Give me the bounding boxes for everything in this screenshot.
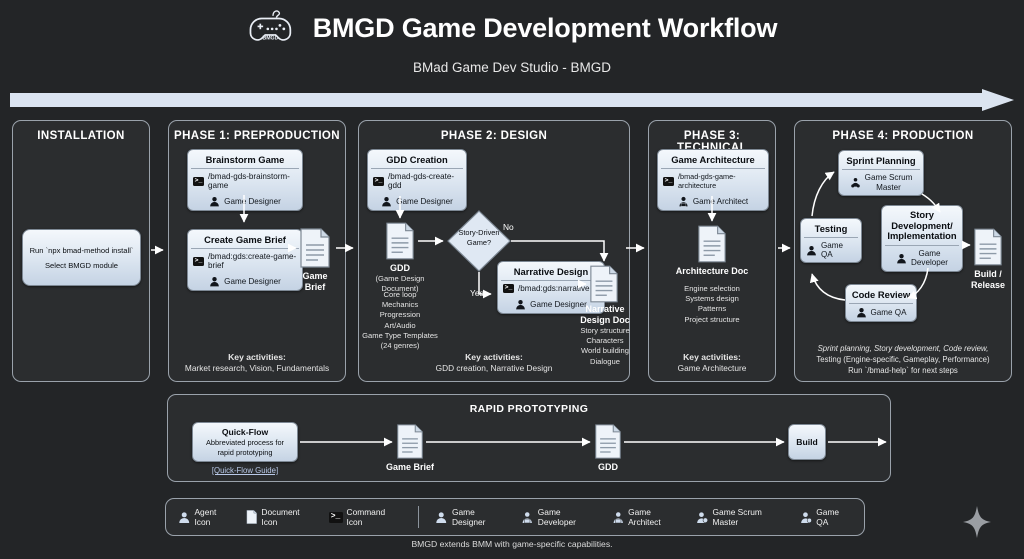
command-icon: >_ bbox=[373, 177, 384, 186]
game-designer-icon bbox=[209, 276, 220, 287]
phase4-footer: Sprint planning, Story development, Code… bbox=[796, 344, 1010, 365]
legend-role-game-developer: Game Developer bbox=[521, 507, 598, 527]
bullet-0: Story structure bbox=[580, 326, 629, 335]
document-icon-rapid-game-brief bbox=[396, 424, 424, 459]
legend-label: Game Developer bbox=[538, 507, 599, 527]
game-scrum-master-icon bbox=[850, 177, 861, 188]
agent-icon bbox=[178, 511, 190, 524]
legend: Agent Icon Document Icon >_ Command Icon… bbox=[165, 498, 865, 536]
doc-label-game-brief: Game Brief bbox=[285, 271, 345, 293]
page-title: BMGD Game Development Workflow bbox=[313, 13, 778, 44]
label-line-1: Narrative bbox=[585, 304, 624, 314]
command-icon: >_ bbox=[193, 177, 204, 186]
node-command-row[interactable]: >_ /bmad:gds:create-game-brief bbox=[188, 249, 302, 273]
label-line-2: Design Doc bbox=[580, 315, 630, 325]
game-designer-icon bbox=[515, 299, 526, 310]
node-title: Brainstorm Game bbox=[188, 150, 302, 168]
command-icon: >_ bbox=[329, 512, 343, 523]
legend-item-command-icon: >_ Command Icon bbox=[329, 507, 401, 527]
bullet-1: Systems design bbox=[685, 294, 739, 303]
node-game-architecture[interactable]: Game Architecture >_ /bmad-gds-game-arch… bbox=[657, 149, 769, 211]
desc-line-2: rapid prototyping bbox=[217, 448, 272, 457]
node-story-development[interactable]: Story Development/ Implementation Game D… bbox=[881, 205, 963, 272]
panel-title-phase4: PHASE 4: PRODUCTION bbox=[795, 130, 1011, 142]
agent-name: Game Designer bbox=[396, 197, 453, 206]
rapid-prototyping-title: RAPID PROTOTYPING bbox=[168, 403, 890, 415]
node-brainstorm-game[interactable]: Brainstorm Game >_ /bmad-gds-brainstorm-… bbox=[187, 149, 303, 211]
node-agent-row: Game Designer bbox=[368, 193, 466, 210]
panel-title-phase1: PHASE 1: PREPRODUCTION bbox=[169, 130, 345, 142]
node-agent-row: Game QA bbox=[846, 304, 916, 321]
card-rapid-build[interactable]: Build bbox=[788, 424, 826, 460]
phase1-key-activities: Key activities: Market research, Vision,… bbox=[169, 352, 345, 374]
phase4-footer-run: Run `/bmad-help` for next steps bbox=[796, 366, 1010, 375]
key-activities-text: Market research, Vision, Fundamentals bbox=[185, 363, 329, 373]
key-activities-label: Key activities: bbox=[683, 352, 741, 362]
command-text: /bmad-gds-brainstorm-game bbox=[208, 172, 297, 190]
node-title: Game Architecture bbox=[658, 150, 768, 168]
node-title: Create Game Brief bbox=[188, 230, 302, 248]
card-quick-flow[interactable]: Quick-Flow Abbreviated process for rapid… bbox=[192, 422, 298, 462]
timeline-arrow bbox=[10, 89, 1014, 111]
quick-flow-title: Quick-Flow bbox=[222, 427, 268, 437]
node-title: Sprint Planning bbox=[839, 151, 923, 169]
document-icon-narrative bbox=[589, 265, 619, 303]
panel-title-phase2: PHASE 2: DESIGN bbox=[359, 130, 629, 142]
agent-name: Game Designer bbox=[224, 277, 281, 286]
document-icon-game-brief bbox=[299, 228, 331, 268]
node-testing[interactable]: Testing Game QA bbox=[800, 218, 862, 263]
key-activities-label: Key activities: bbox=[228, 352, 286, 362]
footer-caption: BMGD extends BMM with game-specific capa… bbox=[0, 539, 1024, 549]
bullet-5: (24 genres) bbox=[381, 341, 420, 350]
document-icon-gdd bbox=[385, 222, 415, 260]
legend-label: Game Scrum Master bbox=[713, 507, 787, 527]
bullet-3: Project structure bbox=[684, 315, 739, 324]
agent-name: Game QA bbox=[871, 308, 907, 317]
command-text: /bmad:gds:narrative bbox=[518, 284, 590, 293]
game-developer-icon bbox=[896, 253, 907, 264]
game-qa-icon bbox=[806, 245, 817, 256]
game-designer-icon bbox=[435, 511, 447, 524]
game-qa-icon bbox=[800, 511, 812, 524]
command-text: /bmad-gds-create-gdd bbox=[388, 172, 461, 190]
install-line-1: Run `npx bmad-method install` bbox=[30, 246, 134, 255]
quick-flow-desc: Abbreviated process for rapid prototypin… bbox=[206, 438, 284, 457]
document-icon bbox=[246, 510, 258, 524]
agent-line-2: Master bbox=[876, 183, 901, 192]
node-agent-row: Game QA bbox=[801, 238, 861, 262]
legend-label: Game QA bbox=[816, 507, 852, 527]
quick-flow-guide-link[interactable]: [Quick-Flow Guide] bbox=[180, 466, 310, 475]
key-activities-text: GDD creation, Narrative Design bbox=[436, 363, 553, 373]
legend-label: Command Icon bbox=[347, 507, 401, 527]
sparkle-icon bbox=[962, 505, 992, 539]
command-text: /bmad:gds:create-game-brief bbox=[208, 252, 297, 270]
key-activities-label: Key activities: bbox=[465, 352, 523, 362]
game-developer-icon bbox=[521, 511, 533, 524]
page-subtitle: BMad Game Dev Studio - BMGD bbox=[0, 60, 1024, 75]
command-icon: >_ bbox=[663, 177, 674, 186]
legend-role-game-scrum-master: Game Scrum Master bbox=[696, 507, 787, 527]
document-icon-build-release bbox=[973, 228, 1003, 266]
legend-role-game-designer: Game Designer bbox=[435, 507, 508, 527]
node-agent-row: Game Designer bbox=[188, 193, 302, 210]
panel-installation: INSTALLATION Run `npx bmad-method instal… bbox=[12, 120, 150, 382]
bullet-2: Patterns bbox=[698, 304, 726, 313]
build-label: Build bbox=[796, 437, 817, 447]
node-sprint-planning[interactable]: Sprint Planning Game Scrum Master bbox=[838, 150, 924, 196]
game-designer-icon bbox=[209, 196, 220, 207]
command-icon: >_ bbox=[503, 284, 514, 293]
decision-label: Story-Driven Game? bbox=[447, 228, 511, 247]
footer-line-2: Testing (Engine-specific, Gameplay, Perf… bbox=[816, 355, 989, 364]
bullet-3: Dialogue bbox=[590, 357, 620, 366]
bullet-3: Art/Audio bbox=[384, 321, 415, 330]
node-title: Story Development/ Implementation bbox=[882, 206, 962, 245]
node-command-row[interactable]: >_ /bmad-gds-brainstorm-game bbox=[188, 169, 302, 193]
node-agent-row: Game Scrum Master bbox=[839, 170, 923, 195]
legend-label: Game Architect bbox=[628, 507, 683, 527]
label-line-1: Game bbox=[302, 271, 327, 281]
legend-label: Document Icon bbox=[261, 507, 315, 527]
phase3-key-activities: Key activities: Game Architecture bbox=[649, 352, 775, 374]
game-architect-icon bbox=[612, 511, 624, 524]
title-line-2: Development/ bbox=[891, 220, 952, 231]
bullet-2: Progression bbox=[380, 310, 421, 319]
bullet-1: Mechanics bbox=[382, 300, 418, 309]
legend-label: Game Designer bbox=[452, 507, 508, 527]
label-line-2: Brief bbox=[305, 282, 326, 292]
doc-label-architecture: Architecture Doc bbox=[662, 266, 762, 277]
label-line-2: Release bbox=[971, 280, 1005, 290]
label-line-1: Build / bbox=[974, 269, 1002, 279]
legend-divider bbox=[418, 506, 419, 528]
agent-name: Game Architect bbox=[693, 197, 748, 206]
document-icon-architecture bbox=[697, 225, 727, 263]
bullet-0: Engine selection bbox=[684, 284, 740, 293]
legend-item-agent-icon: Agent Icon bbox=[178, 507, 233, 527]
node-command-row[interactable]: >_ /bmad-gds-game-architecture bbox=[658, 169, 768, 193]
node-command-row[interactable]: >_ /bmad-gds-create-gdd bbox=[368, 169, 466, 193]
node-agent-row: Game Developer bbox=[882, 246, 962, 271]
legend-role-game-architect: Game Architect bbox=[612, 507, 683, 527]
agent-line-2: Developer bbox=[911, 258, 948, 267]
title-line-1: Story bbox=[910, 209, 934, 220]
doc-label-rapid-game-brief: Game Brief bbox=[380, 462, 440, 473]
node-gdd-creation[interactable]: GDD Creation >_ /bmad-gds-create-gdd Gam… bbox=[367, 149, 467, 211]
node-title: Testing bbox=[801, 219, 861, 237]
decision-line-2: Game? bbox=[467, 238, 491, 247]
node-title: GDD Creation bbox=[368, 150, 466, 168]
node-agent-row: Game Architect bbox=[658, 193, 768, 210]
bullet-0: Core loop bbox=[384, 290, 417, 299]
desc-line-1: Abbreviated process for bbox=[206, 438, 284, 447]
node-title: Code Review bbox=[846, 285, 916, 303]
document-icon-rapid-gdd bbox=[594, 424, 622, 459]
doc-label-build-release: Build / Release bbox=[958, 269, 1018, 291]
agent-line-1: Game bbox=[918, 249, 940, 258]
command-text: /bmad-gds-game-architecture bbox=[678, 172, 763, 190]
agent-name: Game QA bbox=[821, 241, 856, 259]
doc-label-gdd: GDD bbox=[362, 263, 438, 274]
edge-label-yes: Yes bbox=[470, 288, 484, 298]
key-activities-text: Game Architecture bbox=[678, 363, 747, 373]
panel-title-installation: INSTALLATION bbox=[13, 130, 149, 142]
footer-line-1: Sprint planning, Story development, Code… bbox=[818, 344, 989, 353]
decision-line-1: Story-Driven bbox=[458, 228, 499, 237]
game-architect-icon bbox=[678, 196, 689, 207]
node-code-review[interactable]: Code Review Game QA bbox=[845, 284, 917, 322]
gamepad-logo-icon: BMGD bbox=[247, 6, 299, 50]
agent-name: Game Designer bbox=[224, 197, 281, 206]
legend-item-document-icon: Document Icon bbox=[246, 507, 316, 527]
game-qa-icon bbox=[856, 307, 867, 318]
title-line-3: Implementation bbox=[887, 230, 956, 241]
doc-label-rapid-gdd: GDD bbox=[578, 462, 638, 473]
logo-text: BMGD bbox=[262, 35, 278, 41]
game-designer-icon bbox=[381, 196, 392, 207]
agent-line-1: Game Scrum bbox=[865, 173, 913, 182]
architecture-bullets: Engine selection Systems design Patterns… bbox=[662, 284, 762, 325]
doc-label-narrative: Narrative Design Doc bbox=[574, 304, 636, 326]
command-icon: >_ bbox=[193, 257, 204, 266]
legend-role-game-qa: Game QA bbox=[800, 507, 852, 527]
edge-label-no: No bbox=[503, 222, 514, 232]
agent-name: Game Scrum Master bbox=[865, 173, 913, 192]
bullet-4: Game Type Templates bbox=[362, 331, 438, 340]
agent-name: Game Developer bbox=[911, 249, 948, 268]
install-line-2: Select BMGD module bbox=[45, 261, 118, 270]
legend-label: Agent Icon bbox=[194, 507, 232, 527]
page-header: BMGD BMGD Game Development Workflow BMad… bbox=[0, 6, 1024, 75]
install-instructions-card: Run `npx bmad-method install` Select BMG… bbox=[22, 229, 141, 286]
gdd-bullets: Core loop Mechanics Progression Art/Audi… bbox=[358, 290, 442, 351]
narrative-bullets: Story structure Characters World buildin… bbox=[570, 326, 640, 367]
game-scrum-master-icon bbox=[696, 511, 708, 524]
bullet-1: Characters bbox=[586, 336, 623, 345]
bullet-2: World building bbox=[581, 346, 629, 355]
workflow-diagram: BMGD BMGD Game Development Workflow BMad… bbox=[0, 0, 1024, 559]
